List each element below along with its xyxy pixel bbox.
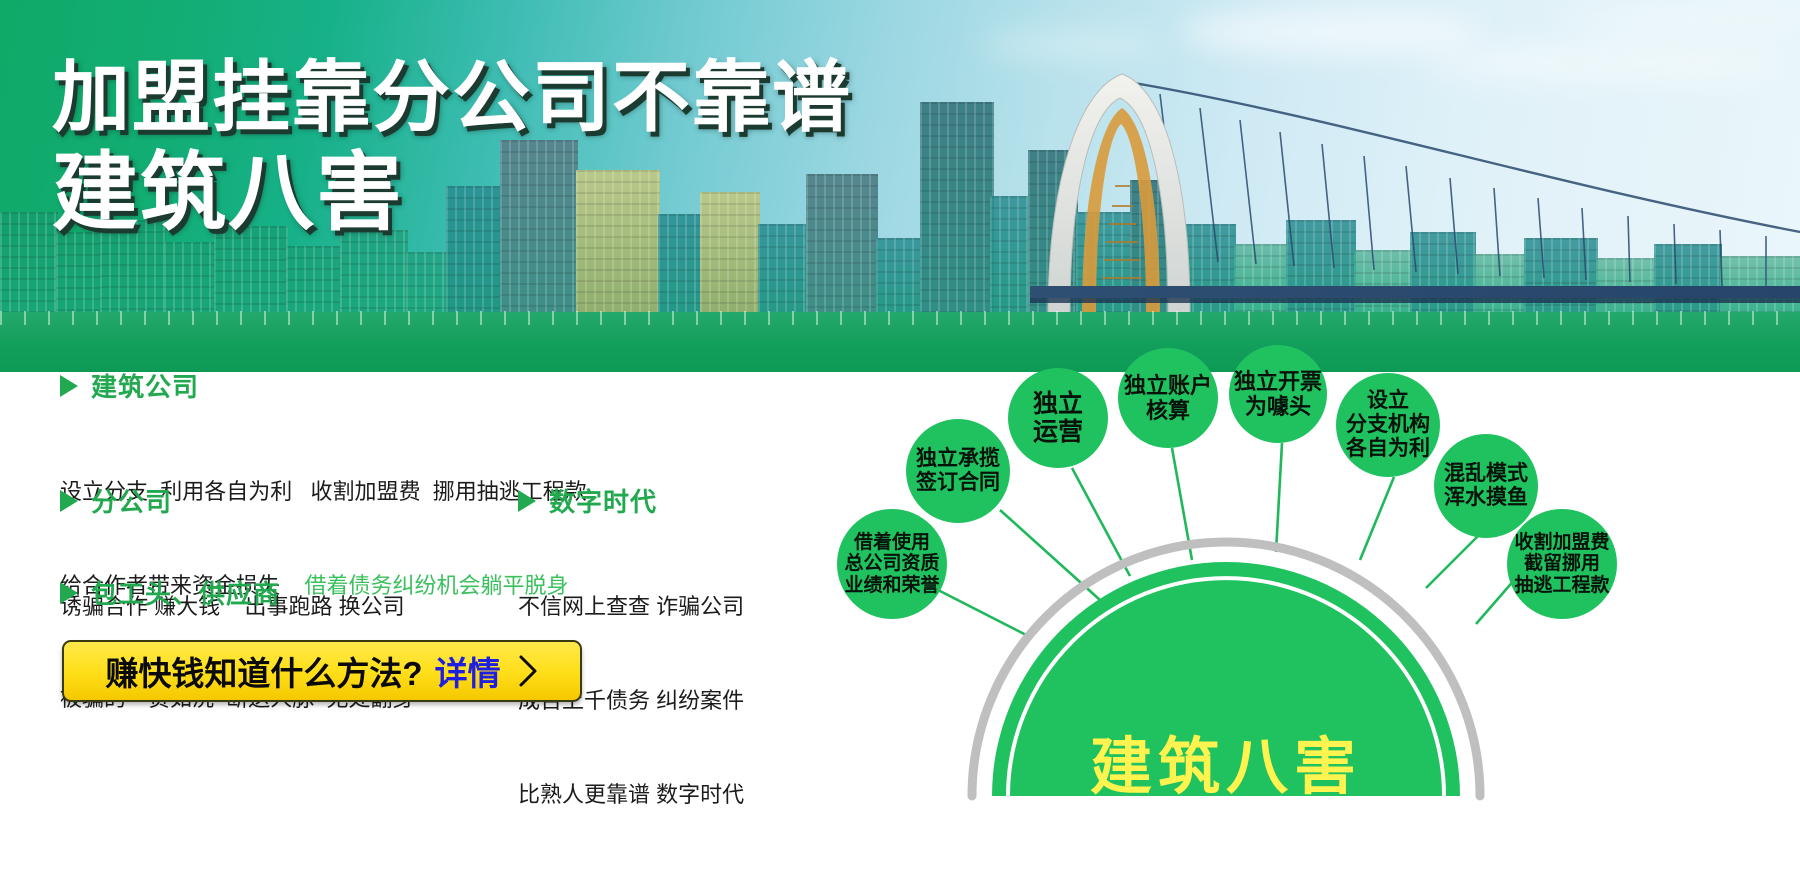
triangle-right-icon [60,375,78,397]
cta-link-label[interactable]: 详情 [435,647,501,695]
bubble-label: 独立账户 核算 [1120,373,1216,423]
left-content-panel: 建筑公司 设立分支 利用各自为利 收割加盟费 挪用抽逃工程款 给合作者带来资金损… [0,372,830,844]
hero-title-line-2: 建筑八害 [52,150,852,238]
section-heading: 建筑公司 [60,367,587,404]
bubble-label: 独立 运营 [1029,390,1087,447]
bubble-shared-qualification[interactable]: 借着使用 总公司资质 业绩和荣誉 [837,509,947,619]
bubble-independent-invoicing[interactable]: 独立开票 为噱头 [1229,345,1327,443]
fence-pattern [0,311,1800,325]
bubble-chaotic-model[interactable]: 混乱模式 浑水摸鱼 [1434,434,1538,538]
bubble-independent-operation[interactable]: 独立 运营 [1008,368,1108,468]
cloud-decoration [1560,4,1800,34]
section-title: 建筑公司 [91,367,199,404]
cloud-decoration [1180,8,1480,56]
bubble-label: 独立开票 为噱头 [1230,369,1326,419]
dome-center-label: 建筑八害 [1026,716,1426,806]
section-title: 包工头、供应商 [91,574,280,611]
bubble-independent-account[interactable]: 独立账户 核算 [1118,348,1218,448]
body-line: 不信网上查查 诈骗公司 [518,591,744,622]
section-heading: 分公司 [60,482,405,519]
chevron-right-icon [517,654,539,688]
bubble-label: 借着使用 总公司资质 业绩和荣誉 [840,532,943,597]
body-line: 比熟人更靠谱 数字时代 [518,779,744,810]
section-title: 分公司 [91,482,172,519]
bubble-label: 收割加盟费 截留挪用 抽逃工程款 [1510,532,1613,597]
section-heading: 数字时代 [518,482,744,519]
section-heading: 包工头、供应商 [60,574,414,611]
triangle-right-icon [60,582,78,604]
cloud-decoration [980,30,1160,60]
bubble-label: 设立 分支机构 各自为利 [1342,389,1434,461]
section-title: 数字时代 [549,482,657,519]
bubble-label: 独立承揽 签订合同 [912,447,1004,495]
hero-banner: 加盟挂靠分公司不靠谱 建筑八害 [0,0,1800,372]
triangle-right-icon [60,490,78,512]
bubble-franchise-fee-siphoning[interactable]: 收割加盟费 截留挪用 抽逃工程款 [1507,509,1617,619]
bridge-illustration [1030,64,1800,316]
bubble-label: 混乱模式 浑水摸鱼 [1440,462,1532,510]
bubble-independent-contracting[interactable]: 独立承揽 签订合同 [906,419,1010,523]
page-title: 加盟挂靠分公司不靠谱 建筑八害 [52,58,852,237]
bubble-branch-setup[interactable]: 设立 分支机构 各自为利 [1336,373,1440,477]
triangle-right-icon [518,490,536,512]
cta-button[interactable]: 赚快钱知道什么方法? 详情 [62,640,582,702]
hero-title-line-1: 加盟挂靠分公司不靠谱 [52,58,852,138]
bubble-diagram: 建筑八害 借着使用 总公司资质 业绩和荣誉 独立承揽 签订合同 独立 运营 独立… [800,338,1800,844]
cta-label: 赚快钱知道什么方法? [105,647,422,695]
